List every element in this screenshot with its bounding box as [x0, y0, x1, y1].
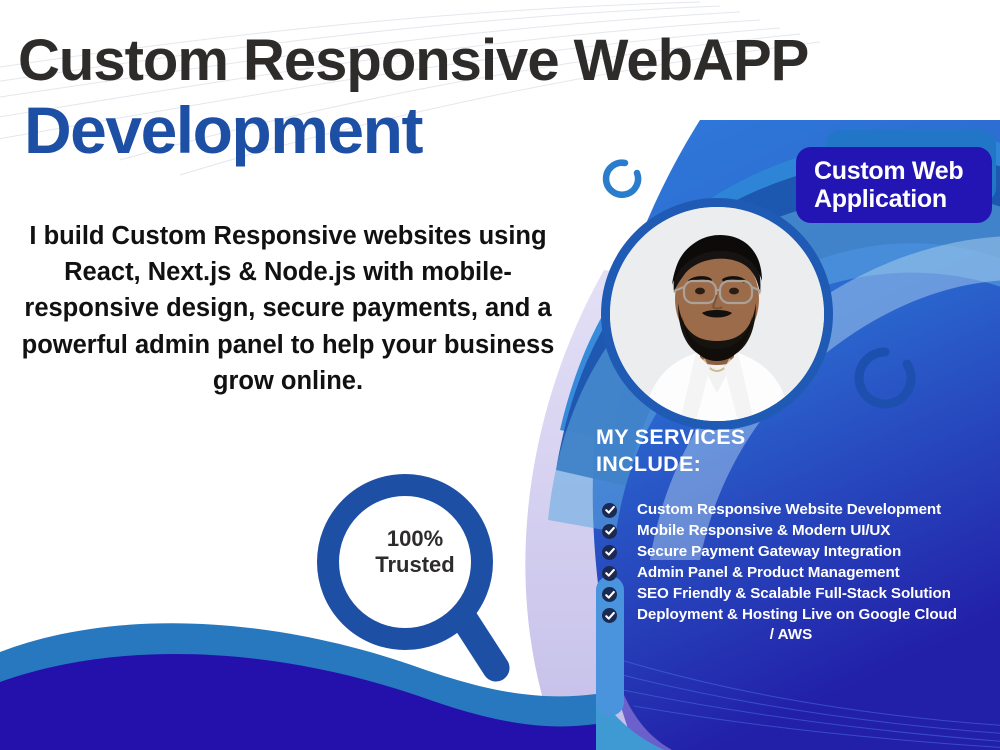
service-label: Admin Panel & Product Management	[637, 563, 900, 583]
custom-web-application-badge[interactable]: Custom Web Application	[796, 147, 992, 223]
services-block: MY SERVICES INCLUDE: Custom Responsive W…	[596, 424, 986, 643]
poster-canvas: Custom Responsive WebAPP Development I b…	[0, 0, 1000, 750]
service-label-continuation: / AWS	[596, 626, 986, 643]
service-label: Secure Payment Gateway Integration	[637, 542, 901, 562]
list-item: Deployment & Hosting Live on Google Clou…	[596, 605, 986, 625]
arc-decor-headline	[592, 148, 642, 198]
check-circle-icon	[602, 566, 617, 581]
list-item: Secure Payment Gateway Integration	[596, 542, 986, 562]
list-item: SEO Friendly & Scalable Full-Stack Solut…	[596, 584, 986, 604]
services-list: Custom Responsive Website Development Mo…	[596, 500, 986, 643]
service-label: Deployment & Hosting Live on Google Clou…	[637, 605, 957, 625]
check-circle-icon	[602, 503, 617, 518]
services-heading-line1: MY SERVICES	[596, 424, 986, 451]
trusted-badge-label: 100% Trusted	[352, 526, 478, 578]
badge-label-line1: Custom Web	[814, 157, 992, 185]
page-title: Custom Responsive WebAPP	[18, 32, 978, 90]
service-label: Custom Responsive Website Development	[637, 500, 941, 520]
avatar-ring	[601, 198, 833, 430]
check-circle-icon	[602, 524, 617, 539]
check-circle-icon	[602, 587, 617, 602]
service-label: Mobile Responsive & Modern UI/UX	[637, 521, 890, 541]
description-text: I build Custom Responsive websites using…	[8, 218, 568, 399]
list-item: Custom Responsive Website Development	[596, 500, 986, 520]
service-label: SEO Friendly & Scalable Full-Stack Solut…	[637, 584, 951, 604]
portrait-illustration	[610, 207, 824, 421]
trusted-badge: 100% Trusted	[300, 468, 550, 693]
badge-label-line2: Application	[814, 185, 992, 213]
magnifier-icon	[300, 468, 550, 693]
list-item: Mobile Responsive & Modern UI/UX	[596, 521, 986, 541]
trusted-percent: 100%	[352, 526, 478, 552]
list-item: Admin Panel & Product Management	[596, 563, 986, 583]
check-circle-icon	[602, 545, 617, 560]
services-heading-line2: INCLUDE:	[596, 451, 986, 478]
check-circle-icon	[602, 608, 617, 623]
trusted-word: Trusted	[352, 552, 478, 578]
avatar	[610, 207, 824, 421]
